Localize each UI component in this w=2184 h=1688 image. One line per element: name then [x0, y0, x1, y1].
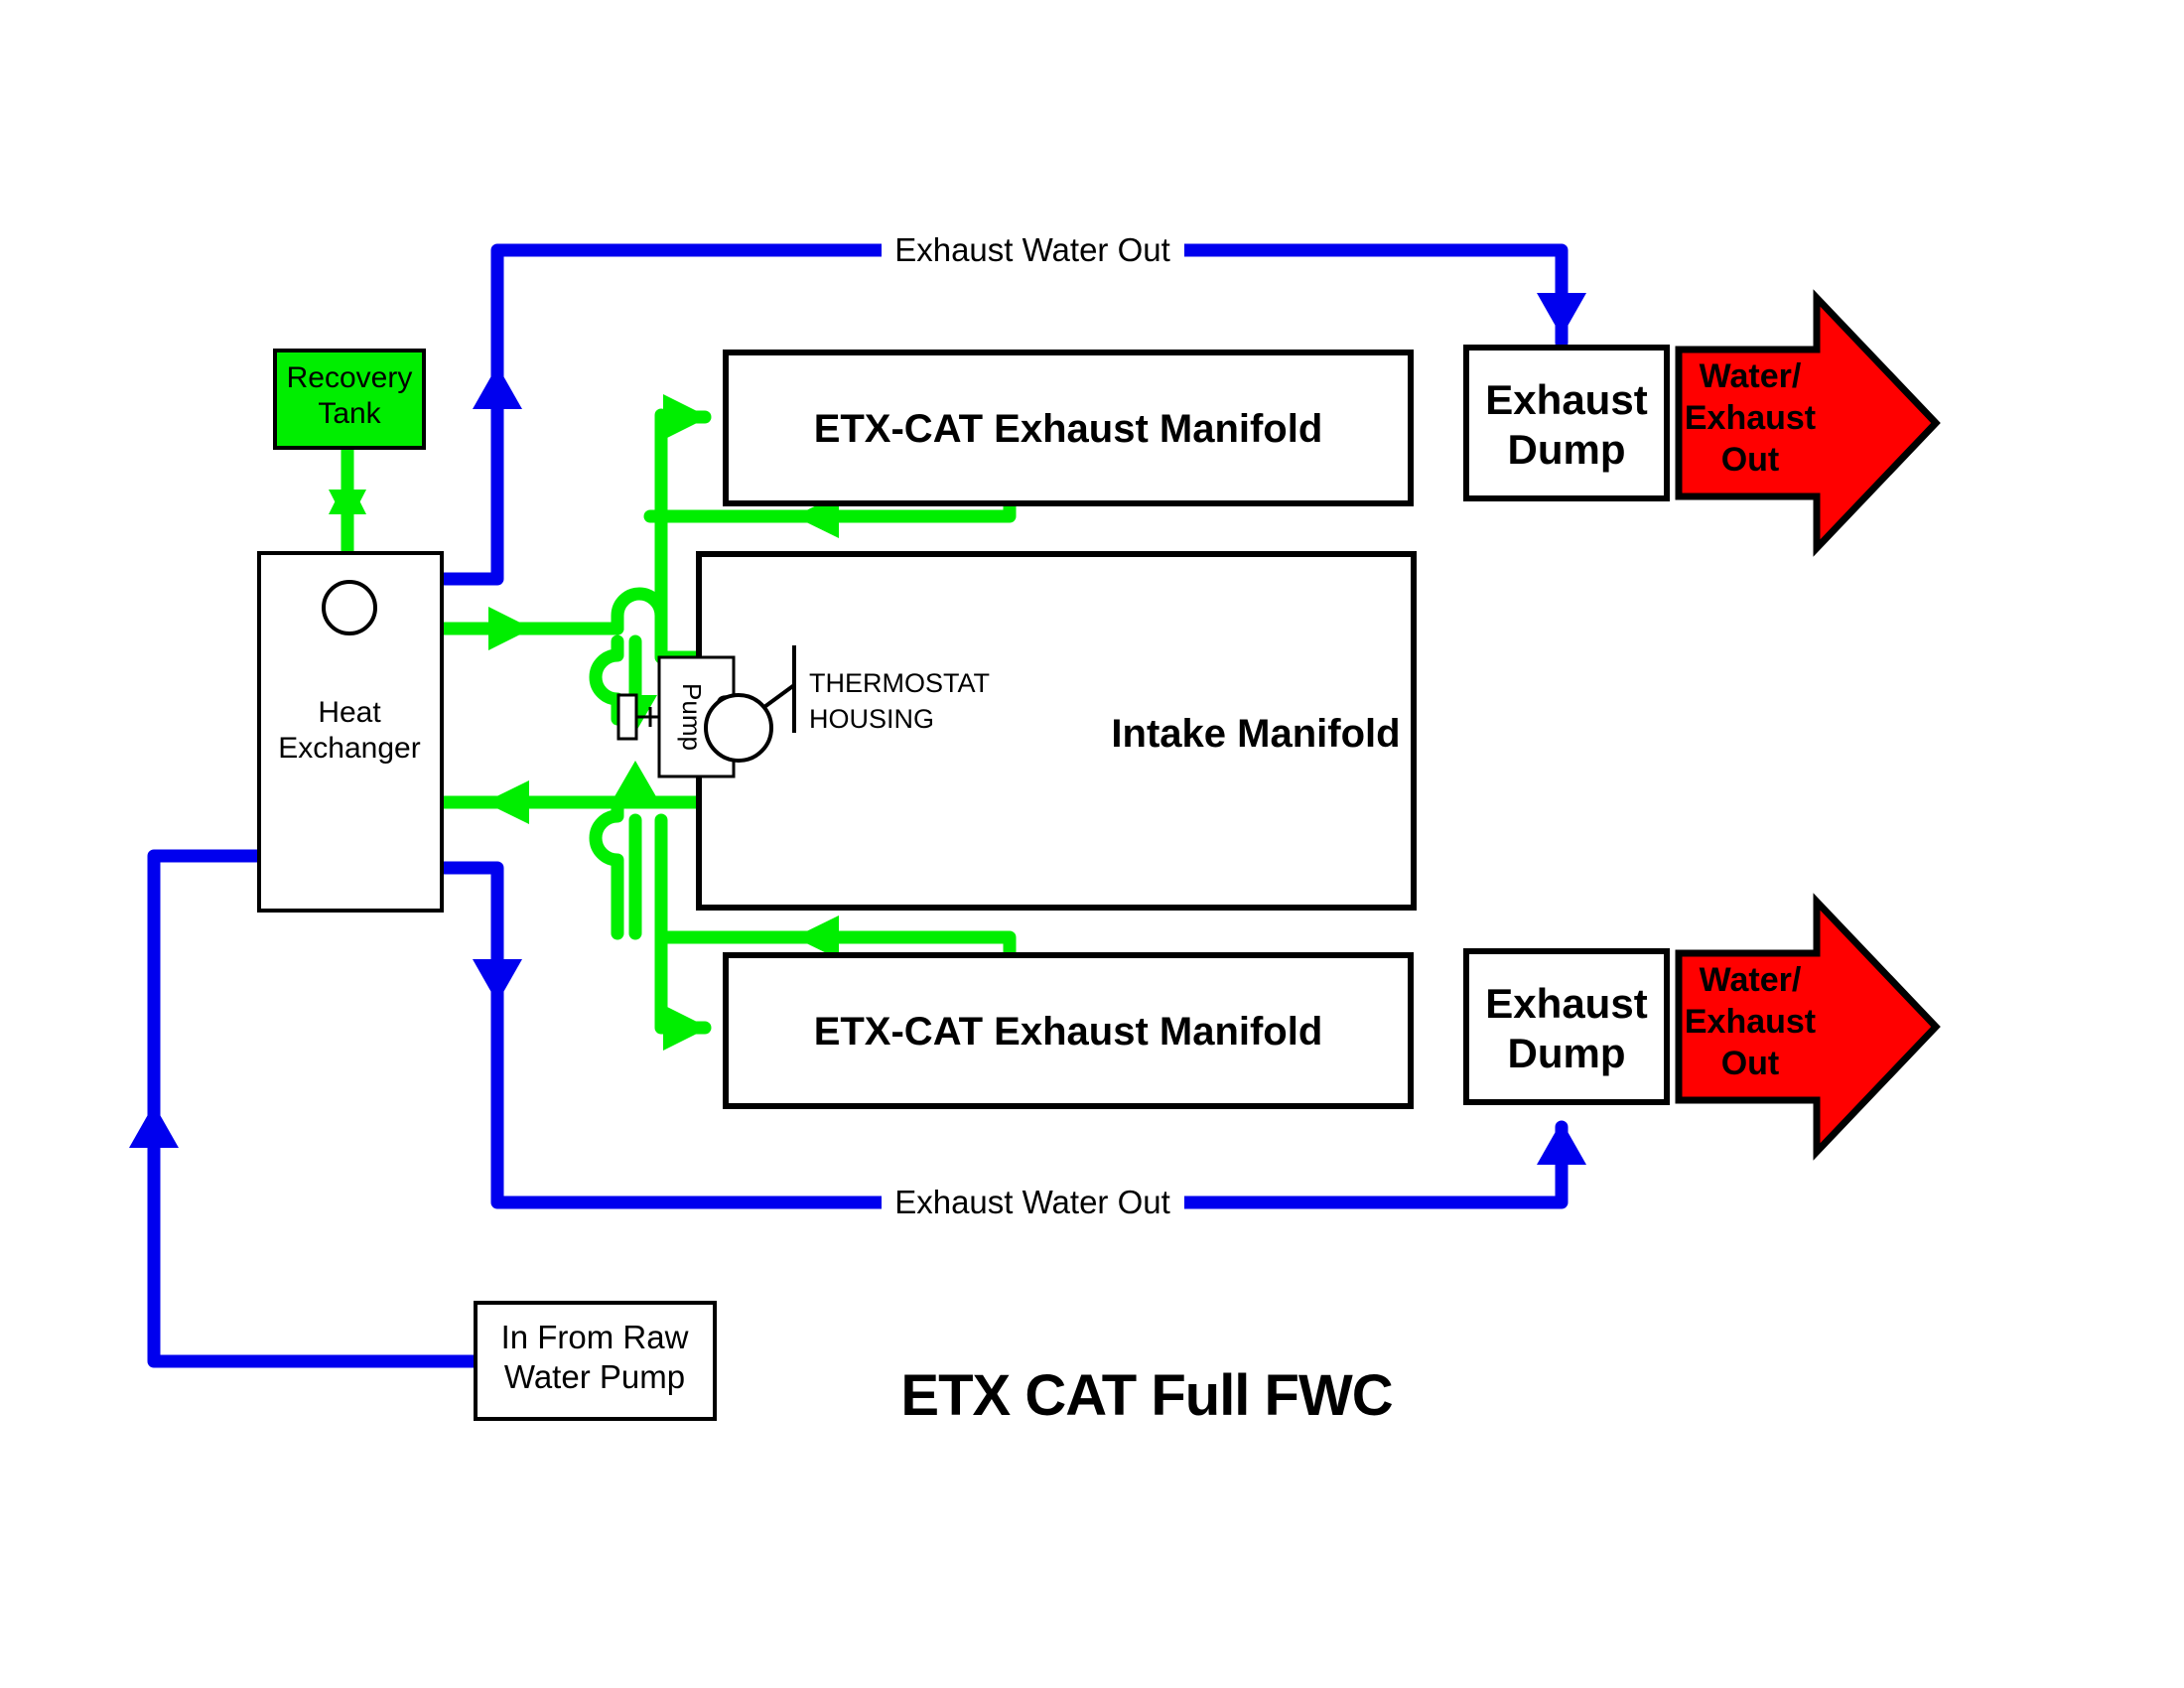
green-arrow-into-bottom-manifold [663, 1005, 709, 1051]
exhaust-water-out-top-label: Exhaust Water Out [894, 231, 1170, 268]
exhaust-dump-bottom-label-line1: Exhaust [1485, 980, 1647, 1027]
green-arrow-into-top-manifold [663, 394, 709, 440]
exhaust-manifold-bottom-box[interactable]: ETX-CAT Exhaust Manifold [726, 955, 1411, 1106]
heat-exchanger-label-line1: Heat [318, 696, 381, 729]
blue-arrow-down-into-top-dump [1537, 293, 1586, 337]
exhaust-water-out-top-label-group: Exhaust Water Out [882, 228, 1184, 272]
exhaust-dump-top-label-line2: Dump [1508, 426, 1626, 473]
exhaust-water-out-bottom-label-group: Exhaust Water Out [882, 1181, 1184, 1224]
heat-exchanger-box[interactable]: Heat Exchanger [259, 553, 442, 911]
circ-pump-valve-icon [618, 695, 636, 739]
exhaust-water-out-bottom-label: Exhaust Water Out [894, 1184, 1170, 1220]
green-riser-down-to-pump [596, 641, 617, 719]
water-exhaust-out-top-line2: Exhaust [1685, 399, 1816, 437]
raw-water-pump-inlet-label-line1: In From Raw [501, 1319, 689, 1355]
green-riser-lower [596, 802, 617, 933]
exhaust-manifold-bottom-label: ETX-CAT Exhaust Manifold [814, 1010, 1323, 1054]
thermostat-housing-label-line1: THERMOSTAT [809, 668, 990, 698]
exhaust-dump-bottom-label-line2: Dump [1508, 1030, 1626, 1076]
exhaust-dump-bottom-box[interactable]: Exhaust Dump [1466, 951, 1667, 1102]
water-exhaust-out-bottom-arrow[interactable]: Water/ Exhaust Out [1679, 902, 1936, 1152]
raw-water-pump-inlet-box[interactable]: In From Raw Water Pump [476, 1303, 715, 1419]
water-exhaust-out-top-line3: Out [1721, 441, 1780, 479]
diagram-title: ETX CAT Full FWC [900, 1363, 1392, 1428]
blue-arrow-down-left-run [473, 959, 522, 1003]
water-exhaust-out-bottom-line1: Water/ [1700, 961, 1802, 999]
exhaust-dump-top-box[interactable]: Exhaust Dump [1466, 348, 1667, 498]
intake-manifold-label: Intake Manifold [1111, 712, 1400, 756]
blue-pipe-raw-inlet [154, 856, 476, 1361]
exhaust-manifold-top-label: ETX-CAT Exhaust Manifold [814, 407, 1323, 451]
green-arrow-hx-out [488, 607, 532, 650]
heat-exchanger-cap-icon [324, 582, 375, 633]
thermostat-housing-label-line2: HOUSING [809, 704, 934, 734]
water-exhaust-out-bottom-line2: Exhaust [1685, 1003, 1816, 1041]
water-exhaust-out-bottom-line3: Out [1721, 1045, 1780, 1082]
water-exhaust-out-top-arrow[interactable]: Water/ Exhaust Out [1679, 298, 1936, 548]
raw-water-pump-inlet-label-line2: Water Pump [504, 1358, 685, 1395]
heat-exchanger-label-line2: Exchanger [278, 732, 420, 765]
thermostat-icon [706, 695, 771, 761]
blue-arrow-up-into-bottom-dump [1537, 1121, 1586, 1165]
green-arrow-return-to-hx [484, 780, 529, 824]
water-exhaust-out-top-line1: Water/ [1700, 357, 1802, 395]
exhaust-manifold-top-box[interactable]: ETX-CAT Exhaust Manifold [726, 352, 1411, 503]
green-arrow-pump-suction-up [614, 761, 657, 798]
blue-arrow-up-raw-inlet [129, 1104, 179, 1148]
blue-arrow-up-to-top-loop [473, 365, 522, 409]
recovery-tank-label-line1: Recovery [287, 361, 413, 394]
recovery-tank-label-line2: Tank [318, 397, 381, 430]
circ-pump-label-line2: Pump [677, 683, 707, 751]
intake-manifold-box[interactable]: Intake Manifold [699, 554, 1414, 908]
recovery-tank-box[interactable]: Recovery Tank [275, 351, 424, 448]
exhaust-dump-top-label-line1: Exhaust [1485, 376, 1647, 423]
diagram-canvas: Recovery Tank Heat Exchanger ETX-CAT Exh… [0, 0, 2184, 1688]
